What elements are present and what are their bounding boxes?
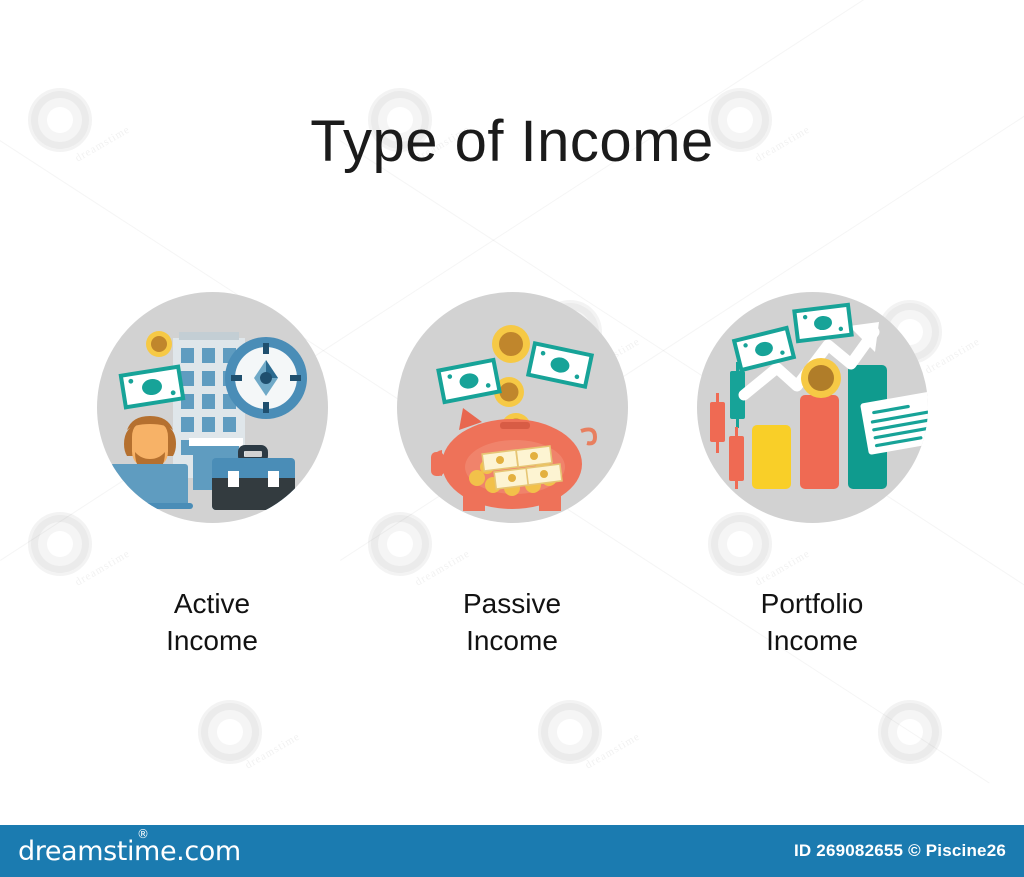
stock-chart-growth-icon — [697, 292, 928, 523]
card-passive-income[interactable]: Passive Income — [397, 292, 628, 659]
dreamstime-logo-text: dreamstime.com — [18, 836, 241, 867]
banknote-icon — [438, 360, 499, 402]
income-type-cards: Active Income — [0, 292, 1024, 659]
banknote-icon — [734, 328, 794, 370]
box-lid — [189, 438, 243, 446]
card-label-portfolio-income: Portfolio Income — [761, 585, 864, 659]
piggy-bank-icon — [431, 408, 595, 511]
candlestick-icon — [729, 427, 744, 489]
icon-circle-active-income — [97, 292, 328, 523]
card-label-active-income: Active Income — [166, 585, 258, 659]
banknote-icon — [528, 343, 591, 386]
bar-orange — [800, 395, 839, 489]
image-credit: ID 269082655 © Piscine26 — [794, 841, 1006, 861]
icon-circle-portfolio-income — [697, 292, 928, 523]
coin-icon — [146, 331, 172, 357]
stock-site-footer: dreamstime.com ® ID 269082655 © Piscine2… — [0, 825, 1024, 877]
card-label-passive-income: Passive Income — [463, 585, 561, 659]
bar-yellow — [752, 425, 791, 489]
banknote-icon — [794, 305, 851, 341]
coin-icon — [801, 358, 841, 398]
page-title: Type of Income — [0, 108, 1024, 175]
clock-icon — [225, 337, 307, 419]
candlestick-icon — [710, 393, 725, 453]
icon-circle-passive-income — [397, 292, 628, 523]
coin-icon — [492, 325, 530, 363]
piggy-bank-savings-icon — [397, 292, 628, 523]
card-portfolio-income[interactable]: Portfolio Income — [697, 292, 928, 659]
office-worker-briefcase-icon — [97, 292, 328, 523]
illustration-canvas: Type of Income — [0, 0, 1024, 877]
dreamstime-logo[interactable]: dreamstime.com ® — [18, 838, 241, 865]
banknote-icon — [120, 367, 182, 408]
registered-mark-icon: ® — [137, 828, 149, 840]
card-active-income[interactable]: Active Income — [97, 292, 328, 659]
